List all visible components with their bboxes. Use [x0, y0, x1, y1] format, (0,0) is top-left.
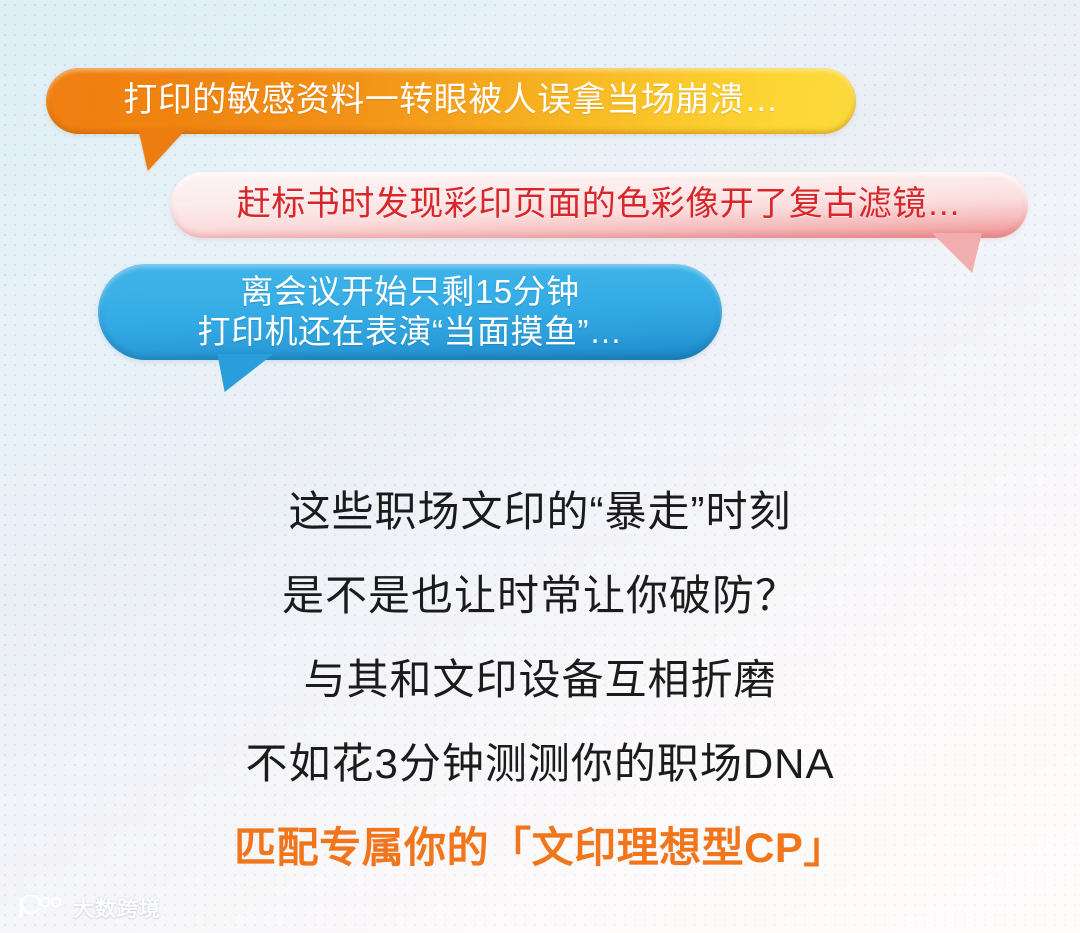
speech-bubble-text: 赶标书时发现彩印页面的色彩像开了复古滤镜… — [237, 184, 962, 225]
poster-canvas: 打印的敏感资料一转眼被人误拿当场崩溃… 赶标书时发现彩印页面的色彩像开了复古滤镜… — [0, 0, 1080, 933]
main-copy-line-highlight: 匹配专属你的「文印理想型CP」 — [0, 806, 1080, 890]
speech-bubble-pain-point-1: 打印的敏感资料一转眼被人误拿当场崩溃… — [46, 68, 856, 134]
main-copy-block: 这些职场文印的“暴走”时刻 是不是也让时常让你破防？ 与其和文印设备互相折磨 不… — [0, 470, 1080, 890]
speech-bubble-text-line: 离会议开始只剩15分钟 — [198, 272, 623, 312]
bubble-tail-icon — [134, 129, 186, 171]
main-copy-line: 不如花3分钟测测你的职场DNA — [0, 722, 1080, 806]
bubble-tail-icon — [932, 233, 986, 273]
main-copy-line: 这些职场文印的“暴走”时刻 — [0, 470, 1080, 554]
speech-bubble-text-block: 离会议开始只剩15分钟 打印机还在表演“当面摸鱼”… — [198, 272, 623, 353]
main-copy-line: 是不是也让时常让你破防？ — [0, 554, 1080, 638]
speech-bubble-text: 打印的敏感资料一转眼被人误拿当场崩溃… — [123, 80, 779, 121]
watermark-brand-text: 大数跨境 — [73, 893, 161, 923]
bubble-tail-icon — [211, 354, 274, 392]
speech-bubble-pain-point-3: 离会议开始只剩15分钟 打印机还在表演“当面摸鱼”… — [98, 264, 722, 360]
speech-bubble-text-line: 打印机还在表演“当面摸鱼”… — [198, 312, 623, 352]
main-copy-line: 与其和文印设备互相折磨 — [0, 638, 1080, 722]
speech-bubble-pain-point-2: 赶标书时发现彩印页面的色彩像开了复古滤镜… — [170, 172, 1028, 238]
dashu-logo-icon — [14, 895, 64, 921]
watermark: 大数跨境 — [14, 893, 161, 923]
